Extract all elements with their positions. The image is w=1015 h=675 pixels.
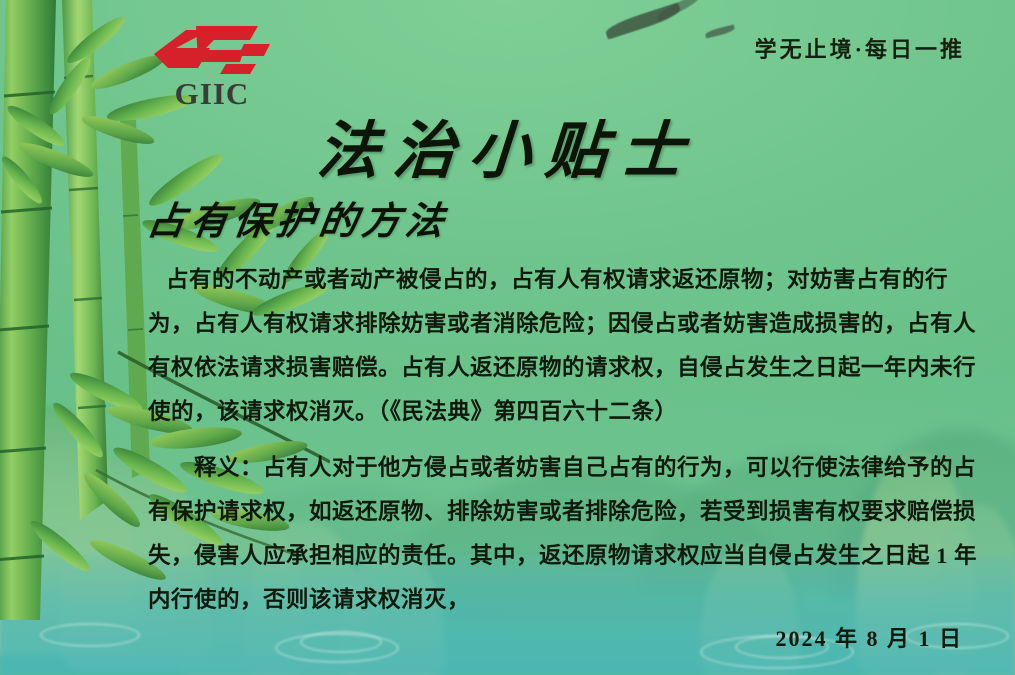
- body-line: 失，侵害人应承担相应的责任。其中，返还原物请求权应当自侵占发生之日起 1 年: [148, 534, 948, 578]
- body-line: 有保护请求权，如返还原物、排除妨害或者排除危险，若受到损害有权要求赔偿损: [148, 490, 948, 534]
- poster-canvas: GIIC 学无止境·每日一推 法治小贴士 占有保护的方法 占有的不动产或者动产被…: [0, 0, 1015, 675]
- body-line-text: 占有的不动产或者动产被侵占的，占有人有权请求返还原物；对妨害占有的行: [166, 258, 948, 302]
- page-title: 法治小贴士: [0, 100, 1015, 190]
- body-line: 占有的不动产或者动产被侵占的，占有人有权请求返还原物；对妨害占有的行: [148, 258, 948, 302]
- brand-logo: GIIC: [152, 24, 272, 109]
- article-body: 占有的不动产或者动产被侵占的，占有人有权请求返还原物；对妨害占有的行 为，占有人…: [148, 258, 948, 626]
- body-line: 内行使的，否则该请求权消灭，: [148, 578, 948, 622]
- giic-g-logo-icon: [152, 24, 272, 76]
- date-stamp: 2024 年 8 月 1 日: [775, 621, 963, 653]
- paragraph-explanation: 释义：占有人对于他方侵占或者妨害自己占有的行为，可以行使法律给予的占 有保护请求…: [148, 446, 948, 622]
- body-line-text: 释义：占有人对于他方侵占或者妨害自己占有的行为，可以行使法律给予的占: [194, 455, 976, 480]
- first-line-indent: [148, 258, 166, 302]
- poster-content: GIIC 学无止境·每日一推 法治小贴士 占有保护的方法 占有的不动产或者动产被…: [0, 0, 1015, 675]
- body-line: 使的，该请求权消灭。（《民法典》第四百六十二条）: [148, 390, 948, 434]
- body-line: 有权依法请求损害赔偿。占有人返还原物的请求权，自侵占发生之日起一年内未行: [148, 346, 948, 390]
- page-subtitle: 占有保护的方法: [144, 190, 453, 245]
- slogan-text: 学无止境·每日一推: [755, 32, 965, 64]
- body-line: 释义：占有人对于他方侵占或者妨害自己占有的行为，可以行使法律给予的占: [148, 446, 948, 490]
- paragraph-law-text: 占有的不动产或者动产被侵占的，占有人有权请求返还原物；对妨害占有的行 为，占有人…: [148, 258, 948, 434]
- body-line: 为，占有人有权请求排除妨害或者消除危险；因侵占或者妨害造成损害的，占有人: [148, 302, 948, 346]
